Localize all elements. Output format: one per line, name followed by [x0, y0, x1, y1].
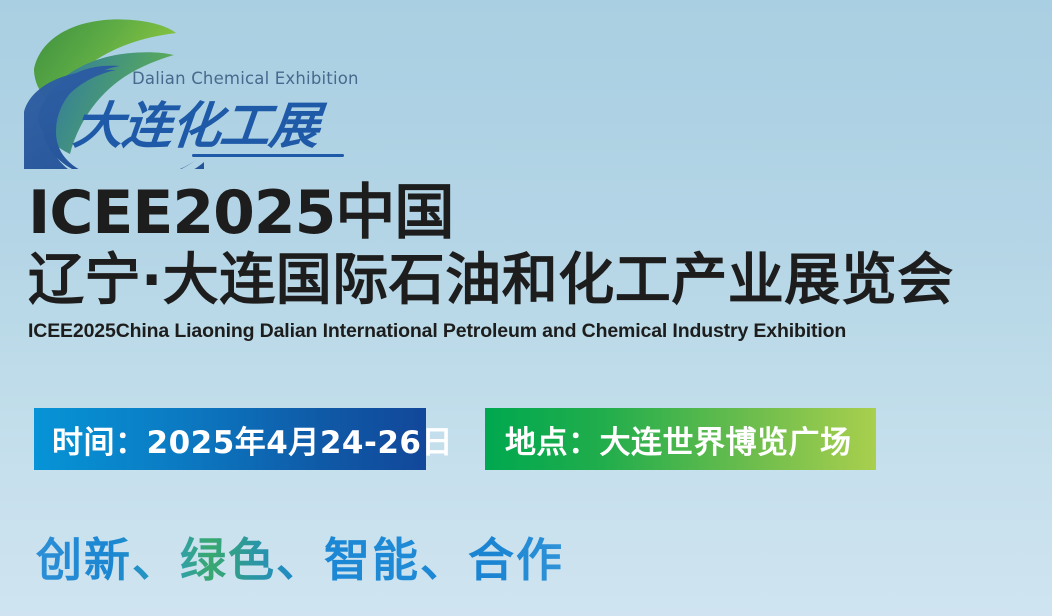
page-title-english: ICEE2025China Liaoning Dalian Internatio…	[28, 320, 1038, 343]
logo-underline	[192, 154, 344, 157]
venue-badge-text: 地点：大连世界博览广场	[505, 417, 852, 462]
logo-chinese-name: 大连化工展	[70, 86, 323, 158]
slogan-text: 创新、绿色、智能、合作	[36, 524, 564, 590]
logo-block: Dalian Chemical Exhibition 大连化工展	[24, 14, 344, 174]
page-title-line1: ICEE2025中国	[28, 178, 1038, 248]
date-badge-text: 时间：2025年4月24-26日	[52, 417, 453, 462]
date-badge: 时间：2025年4月24-26日	[34, 408, 426, 470]
exhibition-poster: Dalian Chemical Exhibition 大连化工展 ICEE202…	[0, 0, 1052, 616]
title-block: ICEE2025中国 辽宁·大连国际石油和化工产业展览会 ICEE2025Chi…	[28, 178, 1038, 343]
page-title-line2: 辽宁·大连国际石油和化工产业展览会	[28, 248, 1038, 314]
venue-badge: 地点：大连世界博览广场	[485, 408, 876, 470]
